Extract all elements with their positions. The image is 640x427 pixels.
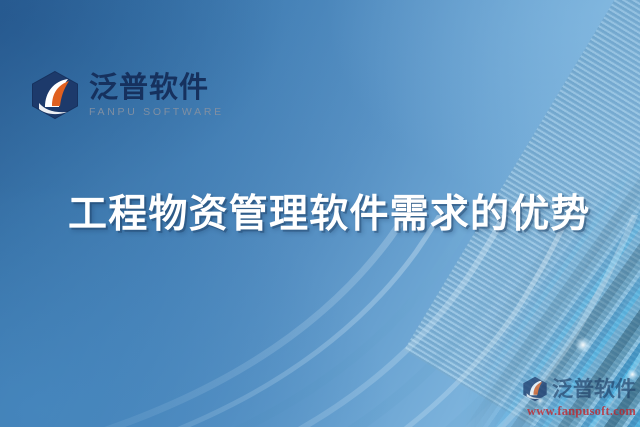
light-spark-1: [575, 337, 591, 353]
brand-logo: 泛普软件 FANPU SOFTWARE: [30, 70, 224, 120]
brand-name-cn: 泛普软件: [89, 73, 224, 102]
brand-logo-text: 泛普软件 FANPU SOFTWARE: [89, 73, 224, 118]
fanpu-hexagon-leaf-icon: [30, 70, 80, 120]
brand-name-en: FANPU SOFTWARE: [89, 107, 224, 118]
promo-banner: 泛普软件 FANPU SOFTWARE 工程物资管理软件需求的优势 泛普软件 w…: [0, 0, 640, 427]
light-spark-3: [536, 397, 544, 405]
headline-title: 工程物资管理软件需求的优势: [68, 183, 591, 239]
light-spark-2: [627, 369, 638, 380]
